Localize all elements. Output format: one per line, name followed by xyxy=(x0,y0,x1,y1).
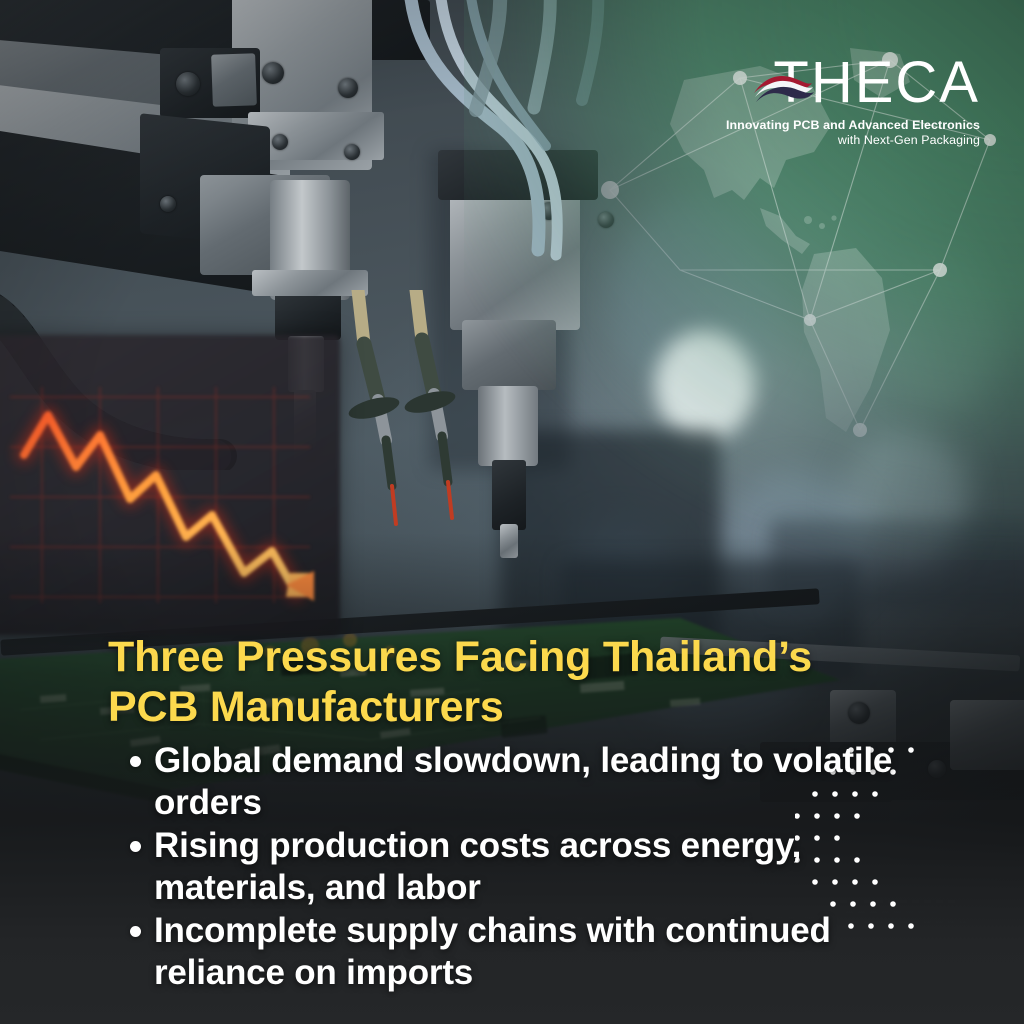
page-title: Three Pressures Facing Thailand’s PCB Ma… xyxy=(108,632,928,732)
thai-flag-swoosh-icon xyxy=(752,71,814,105)
headline-line-2: PCB Manufacturers xyxy=(108,682,928,732)
content-block: Three Pressures Facing Thailand’s PCB Ma… xyxy=(108,632,928,995)
bullet-dot-icon xyxy=(130,756,141,767)
list-item: Incomplete supply chains with continued … xyxy=(108,910,928,994)
theca-logo[interactable]: THECA Innovating PCB and Advanced Electr… xyxy=(726,55,980,148)
list-item-label: Global demand slowdown, leading to volat… xyxy=(154,741,892,822)
headline-line-1: Three Pressures Facing Thailand’s xyxy=(108,632,928,682)
logo-tagline-line1: Innovating PCB and Advanced Electronics xyxy=(726,118,980,133)
list-item-label: Rising production costs across energy, m… xyxy=(154,826,801,907)
list-item: Rising production costs across energy, m… xyxy=(108,825,928,909)
logo-tagline-line2: with Next-Gen Packaging xyxy=(726,133,980,148)
poster-canvas: THECA Innovating PCB and Advanced Electr… xyxy=(0,0,1024,1024)
pressures-list: Global demand slowdown, leading to volat… xyxy=(108,740,928,994)
list-item: Global demand slowdown, leading to volat… xyxy=(108,740,928,824)
bullet-dot-icon xyxy=(130,926,141,937)
list-item-label: Incomplete supply chains with continued … xyxy=(154,911,831,992)
bullet-dot-icon xyxy=(130,841,141,852)
